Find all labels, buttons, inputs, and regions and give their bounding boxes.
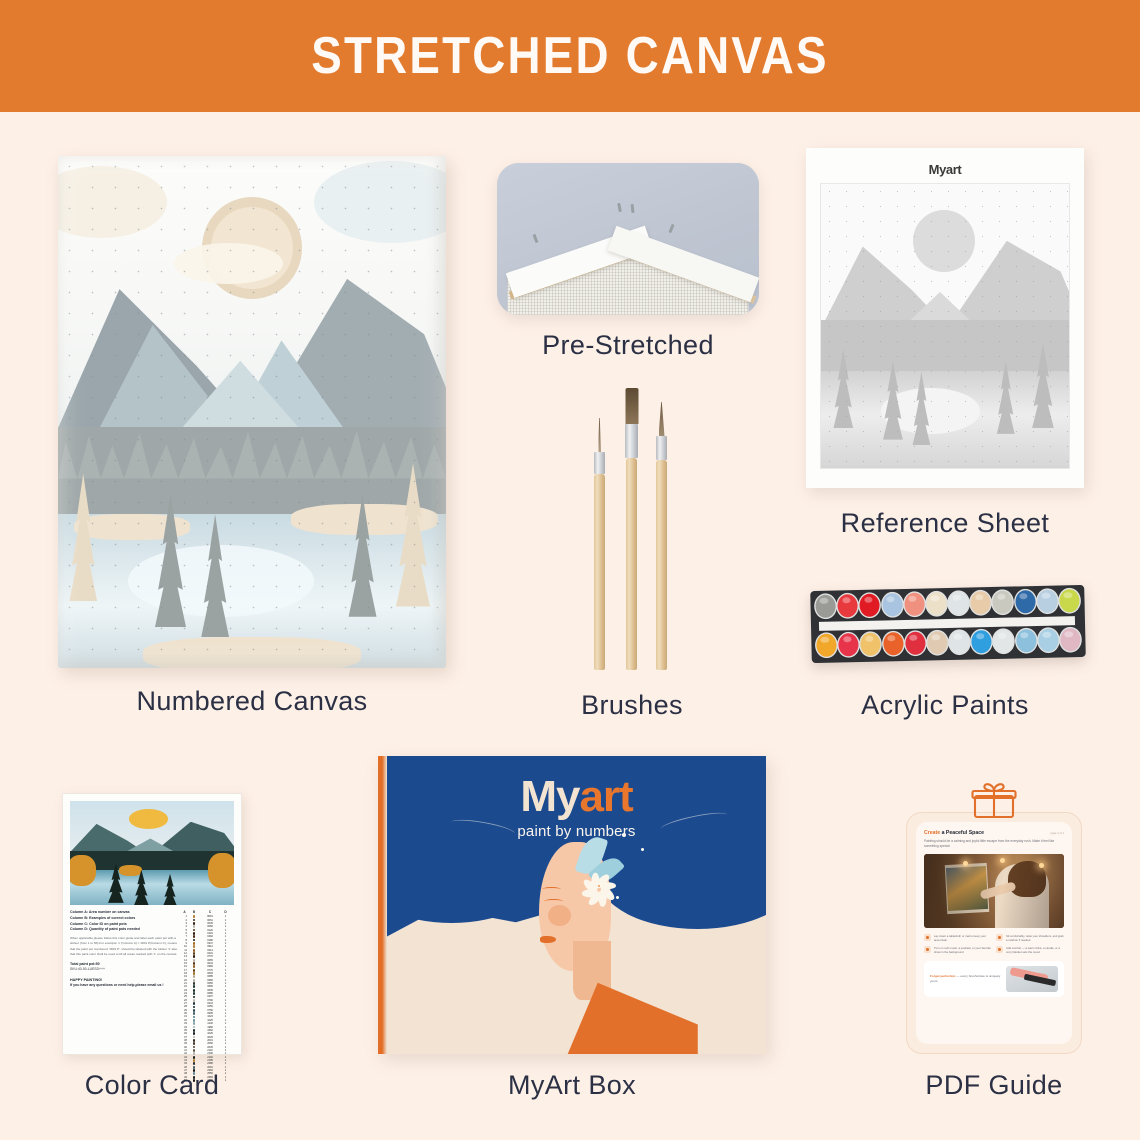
tip-text: Turn on soft music, a podcast, or your f… [934, 946, 992, 954]
paint-pot-12 [1059, 589, 1080, 612]
page-title: STRETCHED CANVAS [311, 26, 828, 86]
paint-pot-11 [1037, 590, 1058, 613]
caption-pdf-guide: PDF Guide [880, 1070, 1108, 1101]
legend-line-d: Column D: Quantity of paint pots needed [70, 927, 178, 933]
box-logo: Myart paint by numbers [387, 772, 766, 840]
reference-sheet-logo: Myart [820, 162, 1070, 177]
paint-pot-7 [948, 592, 969, 615]
page-header: STRETCHED CANVAS [0, 0, 1140, 112]
cc-gold-mid [119, 865, 142, 875]
brush-round-handle [656, 460, 667, 670]
pdf-title-rest: a Peaceful Space [940, 830, 984, 836]
paint-by-number-dots [58, 156, 446, 668]
infographic-page: STRETCHED CANVAS [0, 0, 1140, 1140]
pdf-footer-callout: Forget perfection — every brushstroke is… [924, 961, 1064, 997]
hair-flow-left [387, 833, 539, 922]
brush-round [656, 402, 667, 670]
brush-round-ferrule [656, 436, 667, 460]
pdf-tip-2: Sit comfortably, relax your shoulders, a… [996, 934, 1064, 942]
col-header-a: A [182, 910, 189, 914]
paint-pot-10 [1015, 590, 1036, 613]
paint-pot-2 [837, 594, 858, 617]
footer-text: Forget perfection — every brushstroke is… [930, 974, 1001, 984]
col-header-b: B [189, 910, 199, 914]
brushes-image [576, 388, 686, 670]
col-header-d: D [221, 910, 230, 914]
numbered-canvas-image [58, 156, 446, 668]
myart-box-image: Myart paint by numbers [378, 756, 766, 1054]
pdf-tip-3: Turn on soft music, a podcast, or your f… [924, 946, 992, 954]
staple-2 [630, 204, 634, 213]
paint-pot-1 [816, 634, 837, 657]
tip-icon [924, 934, 931, 941]
pdf-tip-1: Lay down a tablecloth or mat to keep you… [924, 934, 992, 942]
paint-pot-9 [994, 630, 1015, 653]
pdf-photo [924, 854, 1064, 928]
color-card-image: Column A: Area number on canvas Column B… [62, 793, 242, 1055]
paint-pot-4 [882, 593, 903, 616]
paint-pot-4 [883, 632, 904, 655]
brush-flat-tip [625, 388, 638, 424]
woman-cheek [548, 905, 571, 926]
tip-icon [924, 946, 931, 953]
canvas-artwork [58, 156, 446, 668]
caption-color-card: Color Card [42, 1070, 262, 1101]
pdf-guide-image: Create a Peaceful Space page 1 of 1 Pain… [906, 812, 1082, 1054]
col-header-c: C [199, 910, 221, 914]
tip-text: Lay down a tablecloth or mat to keep you… [934, 934, 992, 942]
paint-pot-5 [904, 593, 925, 616]
box-front-face: Myart paint by numbers [387, 756, 766, 1054]
color-card-artwork [70, 801, 234, 905]
tip-icon [996, 946, 1003, 953]
tip-text: Add comfort — a warm drink, a candle, or… [1006, 946, 1064, 954]
paint-pot-9 [993, 591, 1014, 614]
pdf-tips-list: Lay down a tablecloth or mat to keep you… [924, 934, 1064, 955]
swatch-rows: 1801912006113004514008215012016019117049… [182, 915, 234, 1082]
woman-eye-closed [542, 887, 561, 892]
paint-pot-5 [905, 632, 926, 655]
pdf-title-accent: Create [924, 830, 940, 836]
logo-art: art [579, 772, 632, 821]
color-card-body: Column A: Area number on canvas Column B… [70, 910, 234, 1082]
caption-pre-stretched: Pre-Stretched [497, 330, 759, 361]
email-note: If you have any questions or need help,p… [70, 983, 178, 989]
paint-pot-8 [971, 630, 992, 653]
caption-reference-sheet: Reference Sheet [806, 508, 1084, 539]
footer-thumbnail [1006, 966, 1058, 992]
footer-accent: Forget perfection [930, 974, 955, 978]
cc-gold-left [70, 855, 96, 886]
flower-center [598, 885, 600, 887]
pre-stretched-image [497, 163, 759, 315]
tip-text: Sit comfortably, relax your shoulders, a… [1006, 934, 1064, 942]
reference-sheet-artwork [820, 183, 1070, 469]
photo-light-3 [1039, 863, 1044, 868]
caption-acrylic-paints: Acrylic Paints [806, 690, 1084, 721]
color-card-legend: Column A: Area number on canvas Column B… [70, 910, 178, 1082]
sku-code: SKU:40-50-LUESD+++ [70, 967, 178, 973]
photo-light-2 [1000, 858, 1005, 863]
reference-sheet-image: Myart [806, 148, 1084, 488]
caption-myart-box: MyArt Box [378, 1070, 766, 1101]
brush-liner-handle [594, 474, 605, 670]
paint-pot-3 [861, 633, 882, 656]
paint-pot-1 [815, 595, 836, 618]
paint-pot-row-bottom [816, 628, 1081, 660]
brush-liner [594, 418, 605, 670]
daisy-flower-icon [578, 860, 620, 911]
pdf-title: Create a Peaceful Space [924, 830, 984, 836]
brush-liner-ferrule [594, 452, 605, 474]
brush-round-tip [659, 402, 665, 436]
paint-pot-6 [926, 592, 947, 615]
legend-note: When applicable,please follow this color… [70, 936, 178, 957]
brush-liner-tip [598, 418, 601, 452]
tip-icon [996, 934, 1003, 941]
logo-my: My [520, 772, 579, 821]
pdf-header-row: Create a Peaceful Space page 1 of 1 [924, 830, 1064, 836]
acrylic-paints-tray [810, 585, 1086, 663]
pdf-page: Create a Peaceful Space page 1 of 1 Pain… [916, 822, 1072, 1044]
pdf-tip-4: Add comfort — a warm drink, a candle, or… [996, 946, 1064, 954]
paint-pot-12 [1060, 628, 1081, 651]
box-side-edge [378, 756, 387, 1054]
paint-pot-8 [970, 591, 991, 614]
logo-tagline: paint by numbers [387, 823, 766, 840]
gift-icon [971, 781, 1017, 819]
paint-pot-6 [927, 631, 948, 654]
color-swatch-table: A B C D 18019120061130045140082150120160… [182, 910, 234, 1082]
woman-lips [540, 936, 555, 943]
paint-pot-10 [1016, 629, 1037, 652]
brush-flat-handle [626, 458, 637, 670]
pdf-page-number: page 1 of 1 [1051, 832, 1064, 835]
caption-numbered-canvas: Numbered Canvas [58, 686, 446, 717]
caption-brushes: Brushes [516, 690, 748, 721]
brush-flat [626, 388, 637, 670]
ref-number-dots [821, 184, 1069, 468]
woman-eyelash [544, 899, 563, 904]
paint-pot-7 [949, 631, 970, 654]
swatch-table-header: A B C D [182, 910, 234, 914]
cc-gold-right [208, 853, 234, 888]
pdf-subtitle: Painting should be a calming and joyful … [924, 839, 1064, 849]
paint-pot-3 [860, 594, 881, 617]
paint-pot-2 [838, 633, 859, 656]
paint-pot-11 [1038, 629, 1059, 652]
brush-flat-ferrule [625, 424, 638, 458]
